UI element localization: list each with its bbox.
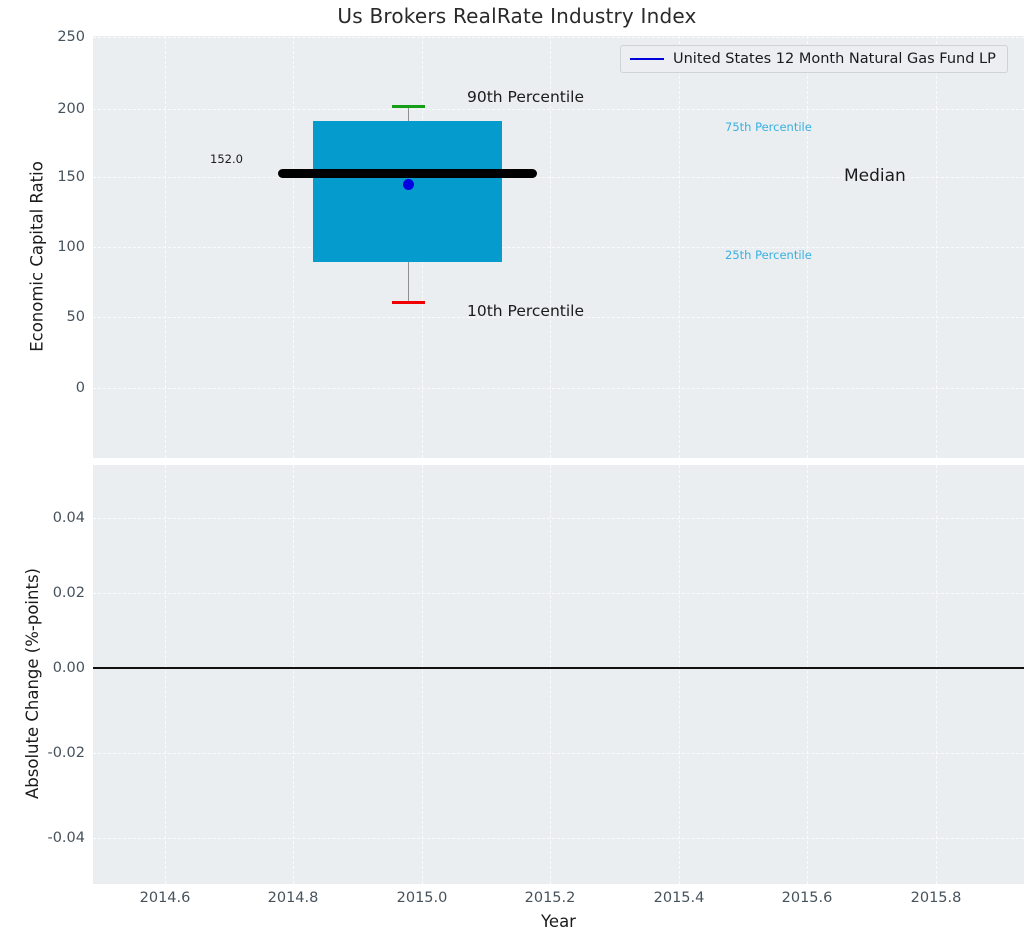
y-tick-label: -0.02 (5, 745, 85, 761)
legend-label: United States 12 Month Natural Gas Fund … (673, 51, 996, 67)
annotation-median: Median (844, 166, 906, 186)
gridline-vertical (293, 465, 294, 884)
x-tick-label: 2014.8 (268, 890, 319, 906)
gridline-horizontal (93, 593, 1024, 594)
zero-reference-line (93, 667, 1024, 669)
x-tick-label: 2015.8 (911, 890, 962, 906)
y-tick-label: 0.00 (5, 660, 85, 676)
gridline-vertical (679, 465, 680, 884)
gridline-horizontal (93, 753, 1024, 754)
annotation-75th-percentile: 75th Percentile (725, 120, 812, 134)
gridline-horizontal (93, 388, 1024, 389)
gridline-vertical (165, 465, 166, 884)
whisker-cap-high (392, 105, 425, 108)
y-axis-ticks-bottom: 0.04 0.02 0.00 -0.02 -0.04 (0, 465, 85, 884)
bottom-subplot-axes (93, 465, 1024, 884)
whisker-cap-low (392, 301, 425, 304)
x-axis-title: Year (93, 912, 1024, 931)
gridline-vertical (936, 465, 937, 884)
interquartile-box (313, 121, 502, 262)
top-subplot-axes: 90th Percentile 10th Percentile Median 7… (93, 36, 1024, 458)
gridline-vertical (550, 465, 551, 884)
median-marker-dot (403, 179, 414, 190)
x-tick-label: 2015.4 (654, 890, 705, 906)
x-tick-label: 2015.6 (782, 890, 833, 906)
x-tick-label: 2015.0 (397, 890, 448, 906)
gridline-vertical (422, 465, 423, 884)
gridline-horizontal (93, 109, 1024, 110)
annotation-10th-percentile: 10th Percentile (467, 302, 584, 320)
annotation-90th-percentile: 90th Percentile (467, 88, 584, 106)
chart-title: Us Brokers RealRate Industry Index (0, 4, 1034, 28)
y-axis-title-top: Economic Capital Ratio (28, 46, 47, 468)
gridline-horizontal (93, 247, 1024, 248)
gridline-horizontal (93, 37, 1024, 38)
annotation-25th-percentile: 25th Percentile (725, 248, 812, 262)
gridline-horizontal (93, 518, 1024, 519)
median-value-label: 152.0 (210, 152, 243, 166)
y-axis-title-bottom: Absolute Change (%-points) (23, 474, 42, 893)
gridline-horizontal (93, 838, 1024, 839)
y-tick-label: -0.04 (5, 830, 85, 846)
chart-legend[interactable]: United States 12 Month Natural Gas Fund … (620, 45, 1008, 73)
y-tick-label: 0.04 (5, 510, 85, 526)
legend-line-swatch (630, 58, 664, 60)
y-tick-label: 250 (5, 29, 85, 45)
y-tick-label: 0.02 (5, 585, 85, 601)
x-tick-label: 2015.2 (525, 890, 576, 906)
x-tick-label: 2014.6 (140, 890, 191, 906)
chart-figure: Us Brokers RealRate Industry Index 90th … (0, 0, 1034, 942)
gridline-vertical (807, 465, 808, 884)
median-line (278, 169, 537, 178)
